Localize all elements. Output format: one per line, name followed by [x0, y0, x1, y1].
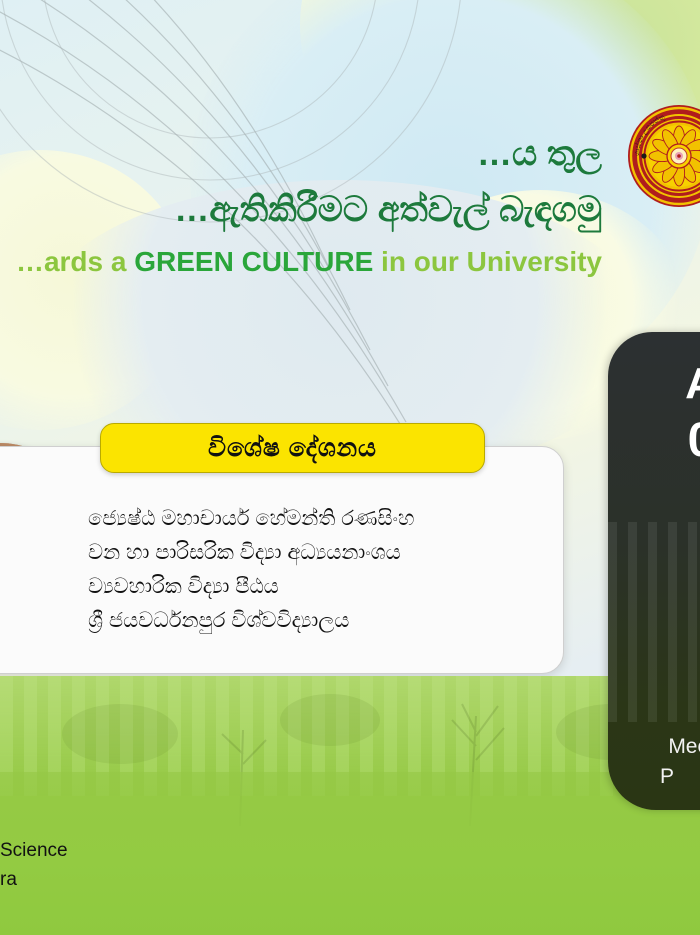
subhead-prefix: …ards a [16, 246, 134, 277]
university-seal-icon: ශාස්තා උපපත්තූ [627, 104, 700, 208]
footer-line-1: Science [0, 836, 280, 865]
speaker-department: වන හා පාරිසරික විද්‍යා අධ්‍යයනාංශය [88, 536, 558, 570]
speaker-card-text: ජ්‍යෙෂ්ඨ මහාචාර්ය හේමන්ති රණසිංහ වන හා ප… [88, 502, 558, 638]
speaker-faculty: ව්‍යවහාරික විද්‍යා පීඨය [88, 570, 558, 604]
panel-texture-overlay [608, 522, 700, 722]
special-lecture-banner-label: විශේෂ දේශනය [208, 434, 377, 463]
panel-date: 0 [608, 412, 700, 470]
poster-subheadline: …ards a GREEN CULTURE in our University [0, 246, 616, 278]
subhead-emphasis: GREEN CULTURE [134, 246, 373, 277]
panel-title: A [608, 356, 700, 412]
headline-line-1: …ය තුල [0, 126, 602, 182]
campus-photo-band [0, 676, 700, 935]
panel-venue-line-2: P [608, 762, 700, 792]
headline-line-2: …ඇතිකිරීමට අත්වැල් බැඳගමු [0, 182, 602, 238]
speaker-name: ජ්‍යෙෂ්ඨ මහාචාර්ය හේමන්ති රණසිංහ [88, 502, 558, 536]
subhead-suffix: in our University [373, 246, 602, 277]
event-details-panel: A 0 Meeti P [608, 332, 700, 810]
panel-venue: Meeti P [608, 732, 700, 792]
speaker-university: ශ්‍රී ජයවර්ධනපුර විශ්වවිද්‍යාලය [88, 604, 558, 638]
poster-headline: …ය තුල …ඇතිකිරීමට අත්වැල් බැඳගමු [0, 126, 616, 238]
poster-root: …ය තුල …ඇතිකිරීමට අත්වැල් බැඳගමු …ards a… [0, 0, 700, 935]
footer-line-2: ra [0, 865, 280, 894]
footer-organizer-text: Science ra [0, 836, 280, 894]
panel-venue-line-1: Meeti [608, 732, 700, 762]
special-lecture-banner: විශේෂ දේශනය [100, 423, 485, 473]
